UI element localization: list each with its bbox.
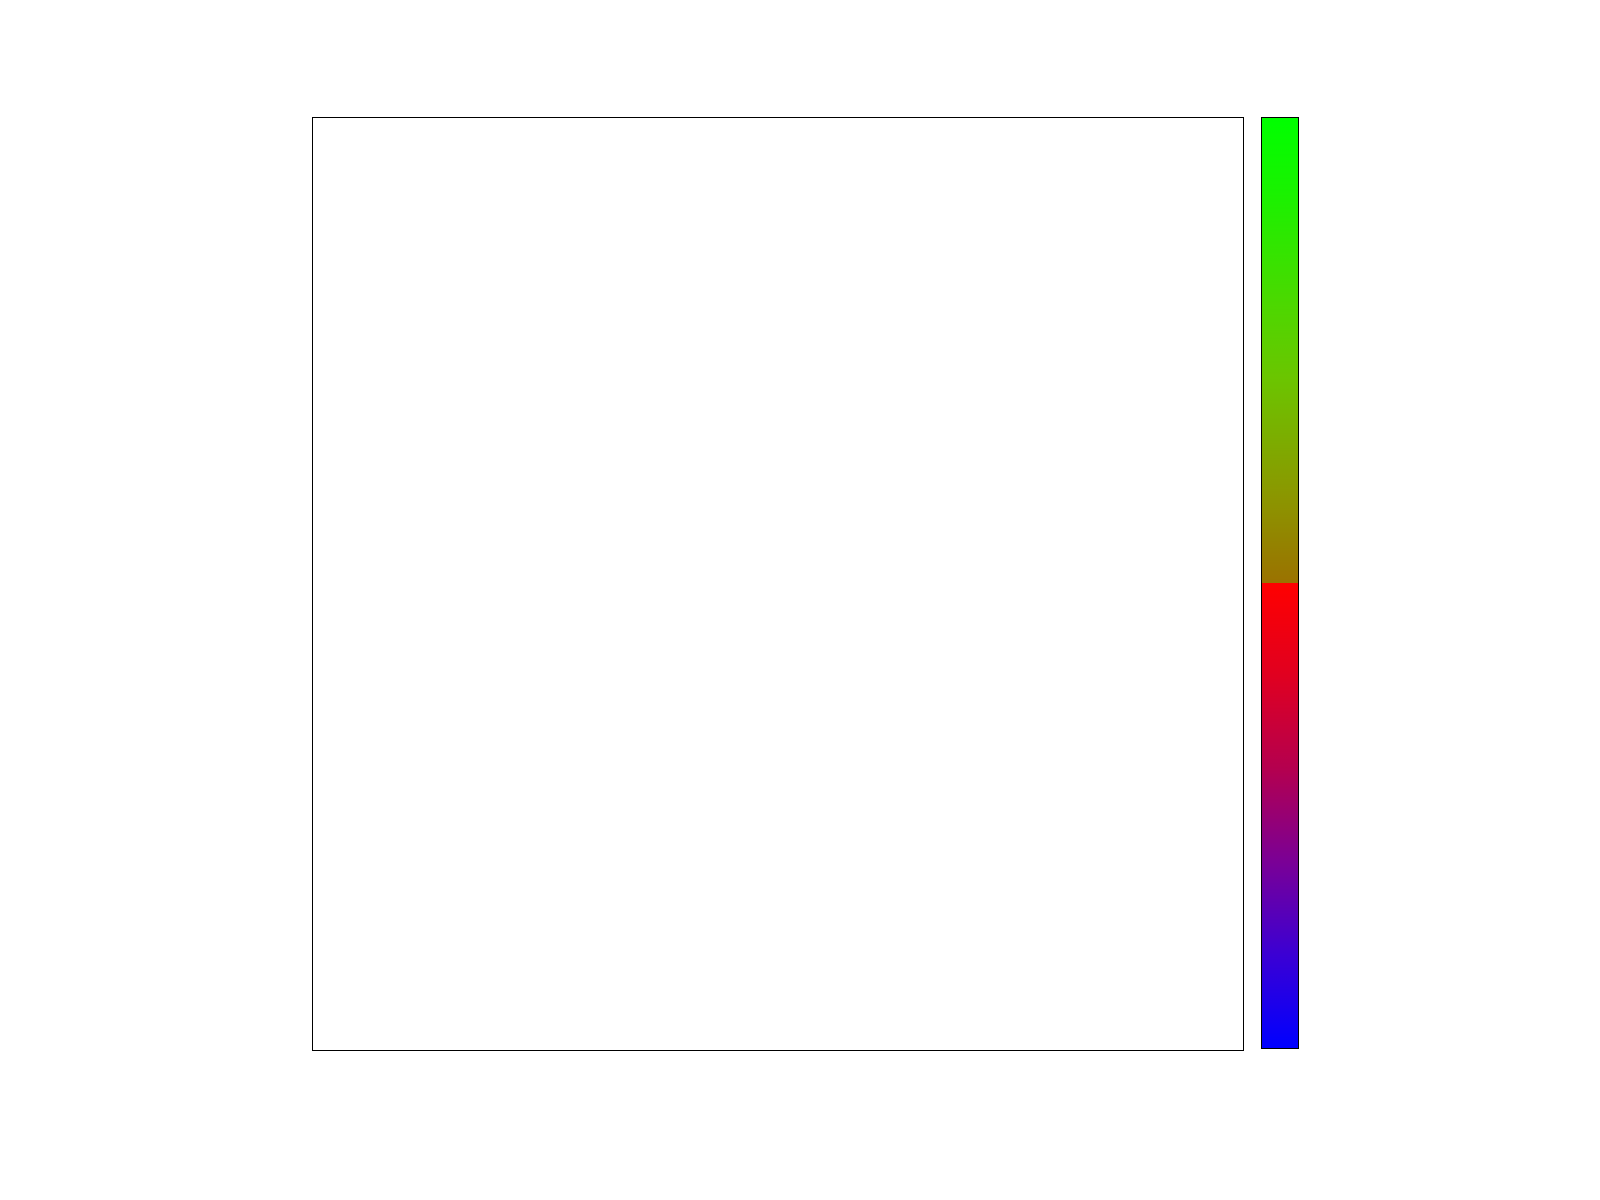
figure-suptitle [0, 22, 1600, 88]
contact-map-plot-area[interactable] [312, 117, 1244, 1051]
contact-map-figure [0, 0, 1600, 1200]
heatmap-cells-layer [313, 118, 1243, 1050]
colorbar-gradient-lower [1261, 583, 1299, 1049]
